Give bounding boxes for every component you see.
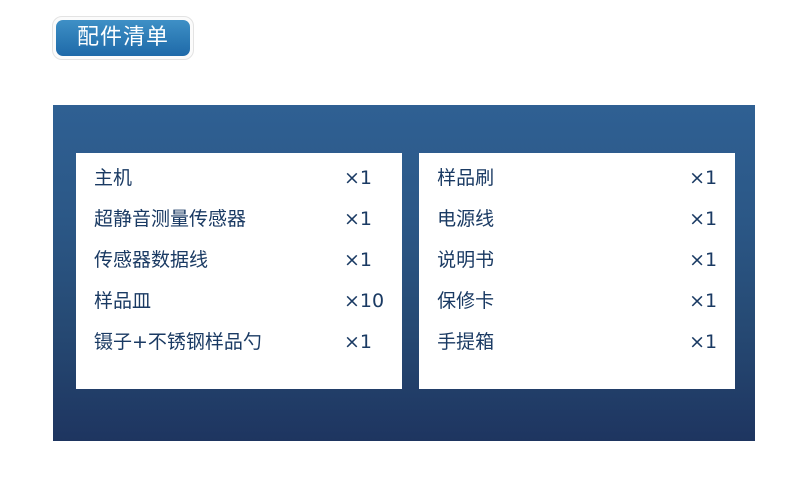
item-name: 超静音测量传感器 <box>94 210 344 229</box>
list-item: 说明书 ×1 <box>419 251 735 292</box>
accessories-card-right: 样品刷 ×1 电源线 ×1 说明书 ×1 保修卡 ×1 手提箱 ×1 <box>419 153 735 389</box>
list-item: 电源线 ×1 <box>419 210 735 251</box>
item-name: 传感器数据线 <box>94 251 344 270</box>
page-title: 配件清单 <box>77 27 169 49</box>
list-item: 手提箱 ×1 <box>419 333 735 374</box>
item-name: 说明书 <box>437 251 689 270</box>
list-item: 镊子+不锈钢样品勺 ×1 <box>76 333 402 374</box>
item-quantity: ×1 <box>344 169 372 188</box>
accessories-cards-container: 主机 ×1 超静音测量传感器 ×1 传感器数据线 ×1 样品皿 ×10 镊子+不… <box>76 153 732 389</box>
accessories-card-left: 主机 ×1 超静音测量传感器 ×1 传感器数据线 ×1 样品皿 ×10 镊子+不… <box>76 153 402 389</box>
item-quantity: ×1 <box>689 333 717 352</box>
item-name: 手提箱 <box>437 333 689 352</box>
item-quantity: ×1 <box>689 169 717 188</box>
item-name: 保修卡 <box>437 292 689 311</box>
list-item: 样品皿 ×10 <box>76 292 402 333</box>
list-item: 保修卡 ×1 <box>419 292 735 333</box>
item-name: 镊子+不锈钢样品勺 <box>94 333 344 352</box>
item-name: 主机 <box>94 169 344 188</box>
item-quantity: ×10 <box>344 292 384 311</box>
item-quantity: ×1 <box>344 251 372 270</box>
item-quantity: ×1 <box>344 210 372 229</box>
list-item: 样品刷 ×1 <box>419 169 735 210</box>
item-quantity: ×1 <box>689 251 717 270</box>
accessories-list-title-badge: 配件清单 <box>52 16 194 60</box>
list-item: 传感器数据线 ×1 <box>76 251 402 292</box>
item-quantity: ×1 <box>689 292 717 311</box>
title-badge-inner: 配件清单 <box>56 20 190 56</box>
list-item: 超静音测量传感器 ×1 <box>76 210 402 251</box>
item-name: 样品刷 <box>437 169 689 188</box>
item-name: 电源线 <box>437 210 689 229</box>
list-item: 主机 ×1 <box>76 169 402 210</box>
item-quantity: ×1 <box>689 210 717 229</box>
item-quantity: ×1 <box>344 333 372 352</box>
item-name: 样品皿 <box>94 292 344 311</box>
accessories-panel: 主机 ×1 超静音测量传感器 ×1 传感器数据线 ×1 样品皿 ×10 镊子+不… <box>53 105 755 441</box>
